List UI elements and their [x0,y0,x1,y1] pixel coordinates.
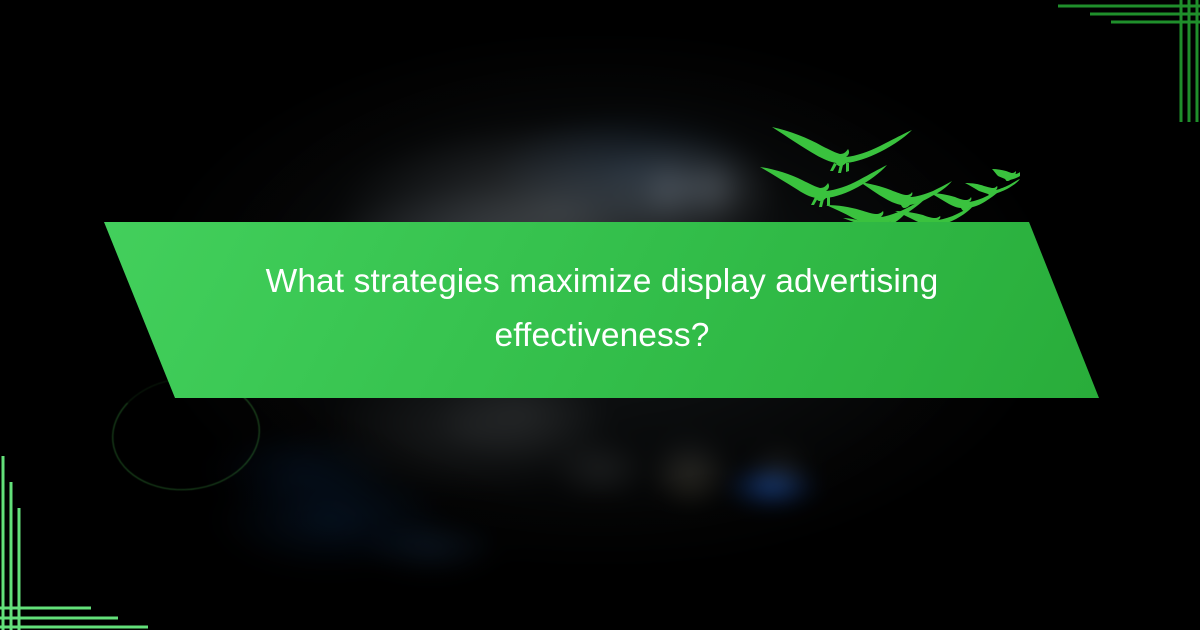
headline-banner: What strategies maximize display adverti… [0,222,1200,400]
banner-text-area: What strategies maximize display adverti… [175,222,1029,400]
page-title: What strategies maximize display adverti… [222,255,982,363]
corner-lines-top-right-icon [1048,0,1200,122]
social-share-card: What strategies maximize display adverti… [0,0,1200,630]
corner-lines-bottom-left-icon [0,438,152,630]
flying-birds-flock-icon [760,105,1020,230]
